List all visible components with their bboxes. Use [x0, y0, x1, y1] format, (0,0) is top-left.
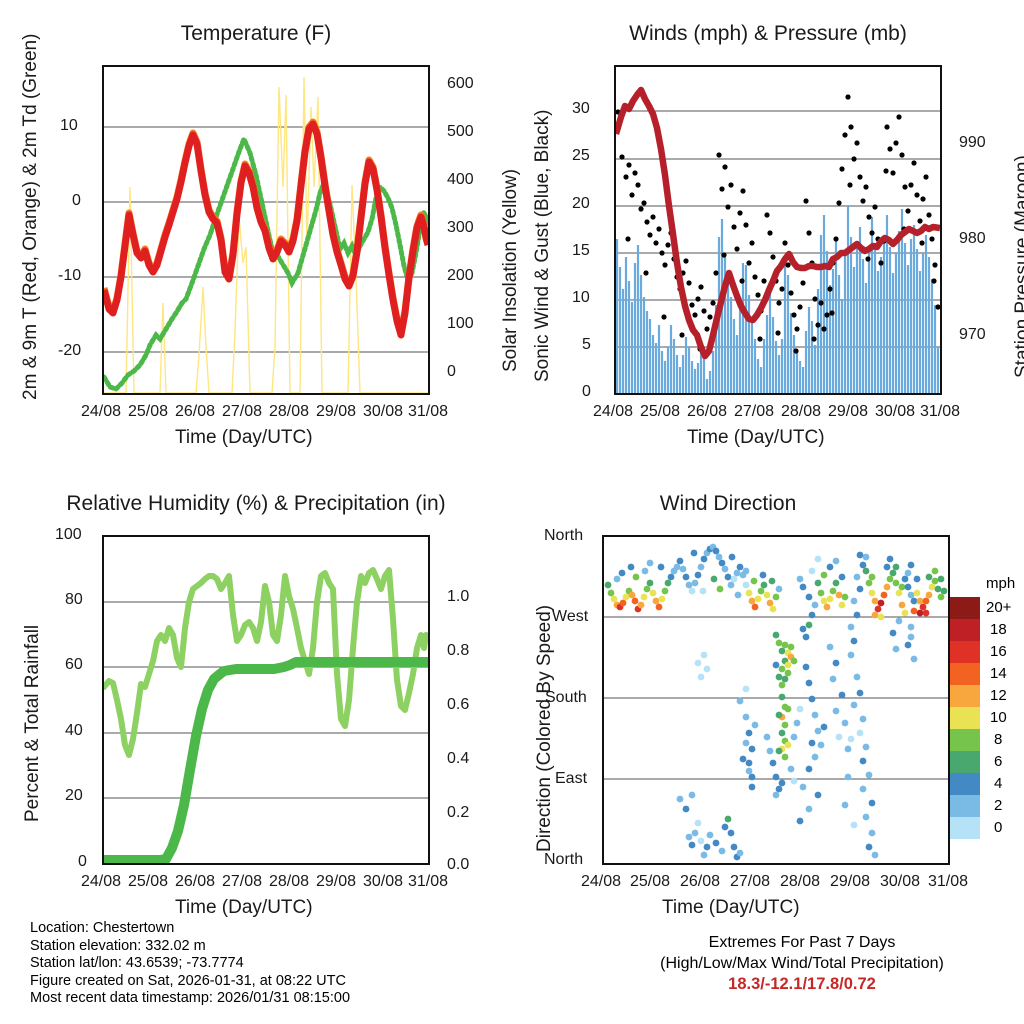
tick-label: -10: [58, 267, 81, 285]
tick-label: 28/08: [269, 403, 309, 421]
temperature-chart-svg: [104, 67, 428, 393]
tick-label: West: [552, 608, 588, 626]
tick-label: 500: [447, 123, 474, 141]
metadata-figure-created: Figure created on Sat, 2026-01-31, at 08…: [30, 973, 350, 991]
temperature-panel-title: Temperature (F): [0, 22, 512, 46]
colorbar-label: 14: [990, 665, 1007, 682]
tick-label: 26/08: [687, 403, 727, 421]
temp-2m-series: [104, 124, 428, 335]
colorbar-label: 18: [990, 621, 1007, 638]
tick-label: 26/08: [175, 403, 215, 421]
tick-label: 27/08: [222, 873, 262, 891]
winds-plot-area: [614, 65, 942, 395]
tick-label: 40: [65, 722, 83, 740]
gridlines: [104, 602, 428, 798]
tick-label: 26/08: [680, 873, 720, 891]
tick-label: 29/08: [830, 873, 870, 891]
humidity-x-axis-label: Time (Day/UTC): [175, 897, 313, 919]
wind-direction-panel-title: Wind Direction: [472, 492, 984, 516]
extremes-heading: Extremes For Past 7 Days: [582, 932, 1022, 953]
metadata-latlon: Station lat/lon: 43.6539; -73.7774: [30, 955, 350, 973]
tick-label: 20: [65, 787, 83, 805]
tick-label: 27/08: [730, 873, 770, 891]
tick-label: 25: [572, 147, 590, 165]
temperature-panel: Temperature (F) 2m & 9m T (Red, Orange) …: [0, 22, 512, 462]
colorbar-label: 0: [994, 819, 1002, 836]
winds-x-axis-label: Time (Day/UTC): [687, 427, 825, 449]
colorbar-swatch: [950, 597, 980, 839]
tick-label: 29/08: [828, 403, 868, 421]
wind-direction-chart-svg: [604, 537, 948, 863]
tick-label: 30/08: [875, 403, 915, 421]
colorbar-label: 2: [994, 797, 1002, 814]
tick-label: 0: [78, 853, 87, 871]
winds-pressure-panel: Winds (mph) & Pressure (mb) Sonic Wind &…: [512, 22, 1024, 462]
wind-direction-scatter: [605, 544, 948, 861]
tick-label: 30/08: [363, 403, 403, 421]
tick-label: 25/08: [128, 873, 168, 891]
tick-label: 28/08: [781, 403, 821, 421]
tick-label: 31/08: [920, 403, 960, 421]
tick-label: 0: [582, 383, 591, 401]
metadata-location: Location: Chestertown: [30, 920, 350, 938]
tick-label: 400: [447, 171, 474, 189]
tick-label: 24/08: [81, 403, 121, 421]
tick-label: 25/08: [630, 873, 670, 891]
tick-label: 970: [959, 326, 986, 344]
tick-label: 0.2: [447, 804, 469, 822]
colorbar-label: 8: [994, 731, 1002, 748]
colorbar-label: 16: [990, 643, 1007, 660]
colorbar-label: 10: [990, 709, 1007, 726]
winds-y-axis-right-label: Station Pressure (Maroon): [1012, 155, 1024, 378]
extremes-summary: Extremes For Past 7 Days (High/Low/Max W…: [582, 932, 1022, 995]
tick-label: 10: [572, 289, 590, 307]
tick-label: 980: [959, 230, 986, 248]
tick-label: 31/08: [408, 403, 448, 421]
gust-series: [616, 94, 940, 353]
tick-label: 29/08: [316, 403, 356, 421]
colorbar-label: 4: [994, 775, 1002, 792]
tick-label: 20: [572, 195, 590, 213]
tick-label: 0: [72, 192, 81, 210]
tick-label: East: [555, 770, 587, 788]
tick-label: 990: [959, 134, 986, 152]
tick-label: 25/08: [128, 403, 168, 421]
colorbar-title: mph: [986, 575, 1015, 592]
total-rainfall-series: [104, 662, 428, 860]
gridlines: [604, 617, 948, 779]
tick-label: 100: [55, 526, 82, 544]
tick-label: 31/08: [928, 873, 968, 891]
tick-label: 28/08: [269, 873, 309, 891]
tick-label: 100: [447, 315, 474, 333]
tick-label: 30: [572, 100, 590, 118]
temperature-x-axis-label: Time (Day/UTC): [175, 427, 313, 449]
humidity-precip-panel: Relative Humidity (%) & Precipitation (i…: [0, 492, 512, 932]
tick-label: 31/08: [408, 873, 448, 891]
wind-speed-colorbar: [950, 597, 980, 839]
tick-label: 15: [572, 242, 590, 260]
sonic-wind-series: [617, 205, 938, 393]
tick-label: 30/08: [880, 873, 920, 891]
tick-label: 30/08: [363, 873, 403, 891]
tick-label: 27/08: [222, 403, 262, 421]
metadata-latest-timestamp: Most recent data timestamp: 2026/01/31 0…: [30, 990, 350, 1008]
tick-label: 60: [65, 656, 83, 674]
winds-panel-title: Winds (mph) & Pressure (mb): [512, 22, 1024, 46]
tick-label: 29/08: [316, 873, 356, 891]
humidity-plot-area: [102, 535, 430, 865]
tick-label: 300: [447, 219, 474, 237]
wind-direction-plot-area: [602, 535, 950, 865]
tick-label: 25/08: [640, 403, 680, 421]
colorbar-label: 12: [990, 687, 1007, 704]
colorbar-label: 20+: [986, 599, 1011, 616]
tick-label: South: [545, 689, 587, 707]
tick-label: -20: [58, 342, 81, 360]
winds-chart-svg: [616, 67, 940, 393]
tick-label: 200: [447, 267, 474, 285]
tick-label: North: [544, 527, 583, 545]
wind-direction-panel: Wind Direction Direction (Colored By Spe…: [512, 492, 1024, 932]
tick-label: North: [544, 851, 583, 869]
tick-label: 10: [60, 117, 78, 135]
tick-label: 600: [447, 75, 474, 93]
extremes-value: 18.3/-12.1/17.8/0.72: [582, 974, 1022, 995]
tick-label: 24/08: [81, 873, 121, 891]
extremes-subheading: (High/Low/Max Wind/Total Precipitation): [582, 953, 1022, 974]
humidity-chart-svg: [104, 537, 428, 863]
tick-label: 0.6: [447, 696, 469, 714]
wind-direction-x-axis-label: Time (Day/UTC): [662, 897, 800, 919]
tick-label: 0.8: [447, 642, 469, 660]
tick-label: 5: [582, 336, 591, 354]
temperature-plot-area: [102, 65, 430, 395]
temperature-y-axis-left-label: 2m & 9m T (Red, Orange) & 2m Td (Green): [20, 34, 42, 400]
humidity-panel-title: Relative Humidity (%) & Precipitation (i…: [0, 492, 512, 516]
tick-label: 24/08: [593, 403, 633, 421]
tick-label: 28/08: [780, 873, 820, 891]
tick-label: 0: [447, 363, 456, 381]
tick-label: 0.4: [447, 750, 469, 768]
wind-direction-y-axis-label: Direction (Colored By Speed): [534, 605, 556, 852]
tick-label: 26/08: [175, 873, 215, 891]
tick-label: 80: [65, 591, 83, 609]
station-metadata: Location: Chestertown Station elevation:…: [30, 920, 350, 1008]
colorbar-label: 6: [994, 753, 1002, 770]
tick-label: 0.0: [447, 856, 469, 874]
gridlines: [616, 111, 940, 347]
tick-label: 27/08: [734, 403, 774, 421]
winds-y-axis-left-label: Sonic Wind & Gust (Blue, Black): [532, 110, 554, 382]
humidity-y-axis-left-label: Percent & Total Rainfall: [22, 625, 44, 822]
metadata-elevation: Station elevation: 332.02 m: [30, 938, 350, 956]
tick-label: 24/08: [581, 873, 621, 891]
tick-label: 1.0: [447, 588, 469, 606]
